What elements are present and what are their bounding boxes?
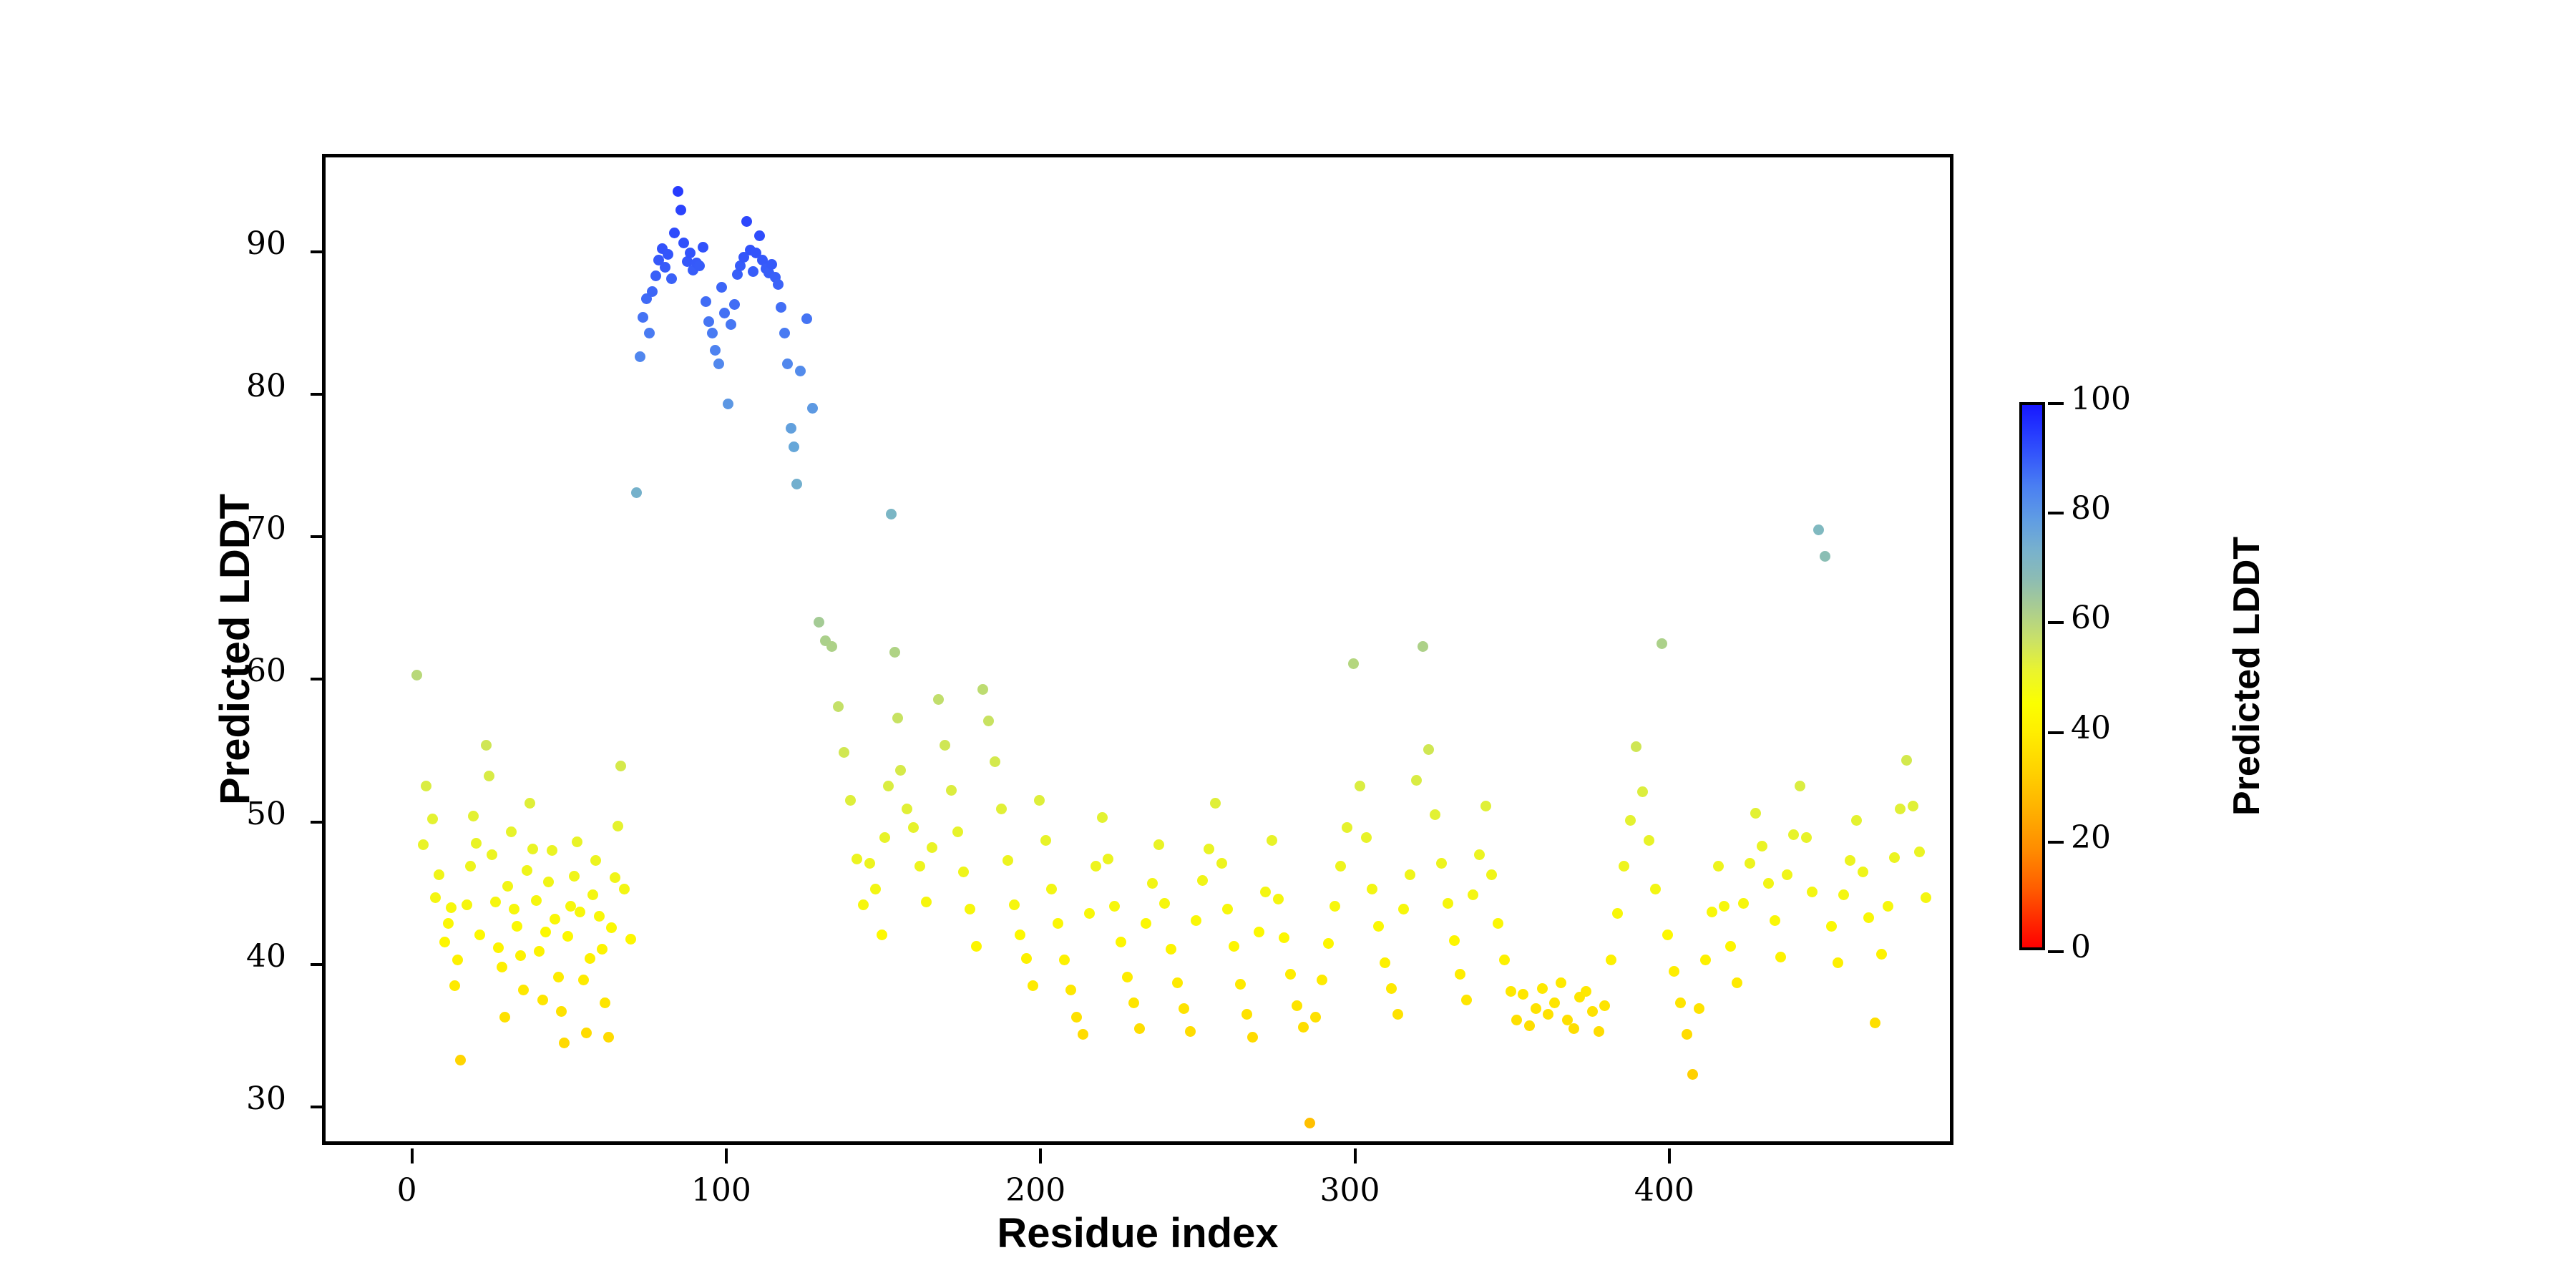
scatter-point bbox=[1518, 989, 1528, 1000]
scatter-point bbox=[1367, 884, 1377, 894]
scatter-point bbox=[845, 795, 856, 806]
x-tick-label: 400 bbox=[1600, 1172, 1729, 1209]
scatter-point bbox=[1901, 755, 1912, 766]
scatter-point bbox=[585, 953, 595, 964]
colorbar-tick-mark bbox=[2048, 731, 2064, 734]
scatter-point bbox=[754, 230, 765, 241]
scatter-point bbox=[795, 366, 806, 376]
scatter-point bbox=[996, 804, 1007, 814]
scatter-point bbox=[1260, 887, 1271, 897]
scatter-point bbox=[1373, 921, 1384, 932]
scatter-point bbox=[490, 897, 501, 907]
scatter-point bbox=[502, 881, 513, 892]
scatter-point bbox=[625, 934, 636, 945]
scatter-point bbox=[694, 260, 705, 271]
scatter-point bbox=[1549, 997, 1560, 1008]
scatter-point bbox=[1323, 938, 1334, 949]
colorbar-tick-mark bbox=[2048, 402, 2064, 405]
scatter-point bbox=[826, 641, 837, 652]
scatter-point bbox=[1921, 892, 1931, 903]
scatter-point bbox=[515, 950, 526, 961]
scatter-point bbox=[1348, 658, 1359, 669]
colorbar-tick-label: 40 bbox=[2071, 710, 2111, 746]
scatter-point bbox=[1669, 966, 1679, 977]
scatter-point bbox=[707, 328, 718, 338]
scatter-point bbox=[1650, 884, 1661, 894]
scatter-point bbox=[1694, 1003, 1704, 1014]
scatter-point bbox=[635, 351, 645, 362]
scatter-point bbox=[729, 299, 740, 310]
scatter-point bbox=[550, 914, 560, 924]
scatter-point bbox=[933, 694, 944, 705]
scatter-point bbox=[703, 316, 714, 327]
scatter-point bbox=[914, 861, 925, 872]
y-tick-mark bbox=[311, 963, 326, 966]
scatter-point bbox=[452, 955, 463, 965]
scatter-point bbox=[1782, 869, 1792, 880]
y-tick-mark bbox=[311, 250, 326, 253]
x-tick-mark bbox=[1668, 1148, 1671, 1163]
y-tick-mark bbox=[311, 535, 326, 538]
scatter-point bbox=[434, 869, 444, 880]
scatter-point bbox=[726, 319, 736, 330]
scatter-point bbox=[1757, 841, 1767, 852]
scatter-point bbox=[1687, 1069, 1698, 1080]
scatter-point bbox=[537, 995, 548, 1005]
scatter-point bbox=[983, 716, 994, 726]
scatter-point bbox=[1480, 801, 1491, 811]
scatter-point bbox=[1398, 904, 1409, 914]
scatter-point bbox=[1531, 1003, 1541, 1014]
scatter-point bbox=[669, 228, 680, 238]
y-tick-label: 90 bbox=[200, 225, 286, 262]
scatter-point bbox=[540, 927, 551, 937]
scatter-point bbox=[1386, 983, 1397, 994]
scatter-point bbox=[1506, 986, 1516, 997]
scatter-point bbox=[594, 911, 605, 922]
scatter-point bbox=[673, 186, 683, 197]
scatter-point bbox=[1870, 1018, 1880, 1028]
scatter-point bbox=[631, 487, 642, 498]
colorbar bbox=[2019, 402, 2045, 950]
scatter-point bbox=[839, 747, 849, 758]
colorbar-tick-mark bbox=[2048, 512, 2064, 514]
scatter-point bbox=[1159, 898, 1170, 909]
scatter-point bbox=[1153, 839, 1164, 850]
scatter-point bbox=[1065, 985, 1076, 995]
scatter-point bbox=[1474, 849, 1485, 860]
scatter-point bbox=[619, 884, 630, 894]
scatter-point bbox=[773, 279, 784, 290]
scatter-point bbox=[1078, 1029, 1088, 1040]
scatter-point bbox=[1662, 930, 1673, 940]
y-tick-mark bbox=[311, 678, 326, 680]
scatter-point bbox=[946, 785, 957, 796]
scatter-point bbox=[766, 259, 777, 270]
scatter-point bbox=[1461, 995, 1472, 1005]
scatter-point bbox=[1015, 930, 1025, 940]
x-tick-mark bbox=[411, 1148, 414, 1163]
scatter-point bbox=[1750, 808, 1761, 819]
scatter-point bbox=[1833, 957, 1843, 968]
scatter-point bbox=[1606, 955, 1616, 965]
scatter-point bbox=[1197, 875, 1208, 886]
y-tick-label: 30 bbox=[200, 1080, 286, 1117]
scatter-point bbox=[590, 855, 601, 866]
scatter-point bbox=[1298, 1022, 1309, 1033]
y-tick-label: 80 bbox=[200, 368, 286, 404]
scatter-point bbox=[666, 273, 677, 284]
scatter-point bbox=[1292, 1000, 1302, 1011]
scatter-point bbox=[789, 441, 799, 452]
colorbar-tick-label: 60 bbox=[2071, 600, 2111, 636]
scatter-point bbox=[1594, 1026, 1604, 1037]
scatter-point bbox=[493, 942, 504, 953]
scatter-point bbox=[748, 266, 758, 277]
scatter-point bbox=[958, 867, 969, 877]
scatter-point bbox=[1216, 858, 1227, 869]
scatter-point bbox=[1820, 551, 1830, 562]
y-tick-mark bbox=[311, 1106, 326, 1108]
scatter-point bbox=[1166, 944, 1176, 955]
x-tick-label: 200 bbox=[971, 1172, 1100, 1209]
scatter-point bbox=[1204, 844, 1214, 854]
x-tick-label: 0 bbox=[343, 1172, 472, 1209]
scatter-point bbox=[1134, 1023, 1145, 1034]
scatter-point bbox=[1179, 1003, 1189, 1014]
scatter-point bbox=[1443, 898, 1453, 909]
scatter-point bbox=[427, 814, 438, 824]
scatter-point bbox=[1141, 918, 1151, 929]
scatter-point bbox=[1267, 835, 1277, 846]
scatter-point bbox=[1914, 847, 1925, 857]
scatter-point bbox=[1725, 941, 1736, 952]
scatter-point bbox=[1813, 525, 1824, 535]
scatter-point bbox=[1109, 901, 1120, 912]
scatter-point bbox=[1625, 815, 1636, 826]
y-tick-mark bbox=[311, 821, 326, 824]
x-tick-mark bbox=[1039, 1148, 1042, 1163]
scatter-point bbox=[1009, 899, 1020, 910]
scatter-point bbox=[1122, 972, 1133, 982]
scatter-point bbox=[1330, 901, 1340, 912]
scatter-point bbox=[1775, 952, 1786, 962]
scatter-point bbox=[791, 479, 802, 489]
scatter-point bbox=[1172, 977, 1183, 988]
scatter-point bbox=[603, 1032, 614, 1043]
scatter-point bbox=[497, 962, 507, 972]
scatter-point bbox=[518, 985, 529, 995]
scatter-point bbox=[786, 423, 796, 434]
scatter-point bbox=[1335, 861, 1346, 872]
scatter-point bbox=[701, 296, 711, 307]
scatter-point bbox=[1304, 1118, 1315, 1128]
scatter-point bbox=[650, 270, 661, 281]
scatter-point bbox=[610, 872, 620, 883]
scatter-point bbox=[921, 897, 932, 907]
scatter-point bbox=[1317, 975, 1327, 985]
scatter-point bbox=[1524, 1020, 1535, 1031]
scatter-point bbox=[468, 811, 479, 821]
scatter-point bbox=[1858, 867, 1868, 877]
scatter-point bbox=[1795, 781, 1805, 791]
scatter-point bbox=[814, 617, 824, 628]
scatter-point bbox=[587, 889, 598, 900]
y-tick-label: 40 bbox=[200, 938, 286, 975]
scatter-point bbox=[1738, 898, 1749, 909]
scatter-point bbox=[1430, 809, 1440, 820]
scatter-point bbox=[553, 972, 564, 982]
scatter-point bbox=[660, 262, 670, 273]
scatter-point bbox=[1405, 869, 1415, 880]
scatter-point bbox=[990, 756, 1000, 767]
scatter-point bbox=[1222, 904, 1233, 914]
scatter-point bbox=[698, 242, 708, 253]
scatter-point bbox=[1801, 832, 1812, 843]
scatter-point bbox=[1361, 832, 1372, 843]
scatter-point bbox=[1310, 1012, 1321, 1023]
scatter-point bbox=[710, 345, 721, 356]
scatter-point bbox=[569, 871, 580, 882]
scatter-point bbox=[1700, 955, 1711, 965]
scatter-point bbox=[572, 836, 582, 847]
scatter-point bbox=[1455, 969, 1465, 980]
scatter-point bbox=[638, 312, 648, 323]
scatter-point bbox=[852, 854, 862, 864]
scatter-point bbox=[465, 861, 476, 872]
scatter-point bbox=[471, 838, 482, 849]
scatter-point bbox=[1644, 835, 1654, 846]
scatter-point bbox=[506, 826, 517, 837]
scatter-point bbox=[600, 997, 610, 1008]
scatter-point bbox=[1707, 907, 1717, 917]
colorbar-tick-label: 0 bbox=[2071, 929, 2091, 965]
scatter-point bbox=[877, 930, 887, 940]
x-axis-title: Residue index bbox=[322, 1209, 1953, 1257]
scatter-point bbox=[1499, 955, 1510, 965]
scatter-point bbox=[895, 765, 906, 776]
scatter-point bbox=[559, 1038, 570, 1048]
plot-area bbox=[322, 154, 1953, 1145]
scatter-point bbox=[713, 358, 724, 369]
scatter-point bbox=[723, 399, 733, 409]
scatter-point bbox=[1411, 775, 1422, 786]
scatter-point bbox=[1128, 997, 1139, 1008]
scatter-point bbox=[1537, 983, 1548, 994]
scatter-point bbox=[1682, 1029, 1692, 1040]
scatter-point bbox=[421, 781, 431, 791]
scatter-point bbox=[1229, 941, 1239, 952]
scatter-point bbox=[1599, 1000, 1610, 1011]
scatter-point bbox=[741, 216, 752, 227]
colorbar-tick-mark bbox=[2048, 621, 2064, 624]
scatter-point bbox=[543, 877, 554, 887]
scatter-point bbox=[1568, 1023, 1579, 1034]
scatter-point bbox=[1273, 894, 1284, 904]
scatter-point bbox=[418, 839, 429, 850]
scatter-point bbox=[1046, 884, 1057, 894]
scatter-point bbox=[1581, 986, 1591, 997]
scatter-point bbox=[1028, 980, 1038, 991]
scatter-point bbox=[977, 684, 988, 695]
x-tick-mark bbox=[1354, 1148, 1357, 1163]
scatter-point bbox=[525, 798, 535, 809]
scatter-point bbox=[613, 821, 623, 831]
scatter-point bbox=[1876, 949, 1887, 960]
scatter-point bbox=[1556, 977, 1566, 988]
scatter-point bbox=[499, 1012, 510, 1023]
scatter-point bbox=[889, 647, 900, 658]
scatter-point bbox=[575, 907, 585, 917]
colorbar-gradient bbox=[2019, 402, 2045, 950]
scatter-point bbox=[1084, 908, 1095, 919]
scatter-point bbox=[1587, 1006, 1598, 1017]
scatter-point bbox=[484, 771, 494, 781]
scatter-point bbox=[1732, 977, 1742, 988]
scatter-point bbox=[1468, 889, 1478, 900]
scatter-point bbox=[1091, 861, 1101, 872]
colorbar-tick-label: 80 bbox=[2071, 490, 2111, 527]
scatter-points-layer bbox=[326, 157, 1950, 1141]
scatter-point bbox=[1147, 878, 1158, 889]
scatter-point bbox=[1116, 937, 1126, 947]
scatter-point bbox=[1103, 854, 1113, 864]
scatter-point bbox=[776, 302, 786, 313]
scatter-point bbox=[1185, 1026, 1196, 1037]
y-tick-label: 60 bbox=[200, 653, 286, 689]
scatter-point bbox=[1380, 957, 1390, 968]
scatter-point bbox=[1423, 744, 1434, 755]
scatter-point bbox=[1637, 786, 1648, 797]
scatter-point bbox=[908, 822, 919, 833]
colorbar-tick-mark bbox=[2048, 950, 2064, 953]
scatter-point bbox=[779, 328, 790, 338]
x-tick-mark bbox=[725, 1148, 728, 1163]
scatter-point bbox=[1657, 638, 1667, 649]
scatter-point bbox=[449, 980, 460, 991]
scatter-point bbox=[675, 205, 686, 215]
scatter-point bbox=[1838, 889, 1849, 900]
colorbar-tick-label: 100 bbox=[2071, 381, 2131, 417]
scatter-point bbox=[1436, 858, 1447, 869]
scatter-point bbox=[1254, 927, 1264, 937]
scatter-point bbox=[581, 1028, 592, 1038]
scatter-point bbox=[527, 844, 538, 854]
scatter-point bbox=[663, 249, 673, 260]
x-tick-label: 300 bbox=[1286, 1172, 1415, 1209]
scatter-point bbox=[597, 944, 608, 955]
scatter-point bbox=[1418, 641, 1428, 652]
scatter-point bbox=[1279, 932, 1289, 943]
scatter-point bbox=[883, 781, 894, 791]
scatter-point bbox=[870, 884, 881, 894]
scatter-point bbox=[1863, 912, 1874, 923]
scatter-point bbox=[940, 740, 950, 751]
y-tick-label: 70 bbox=[200, 510, 286, 547]
colorbar-tick-label: 20 bbox=[2071, 819, 2111, 856]
scatter-point bbox=[1449, 935, 1460, 946]
scatter-point bbox=[606, 922, 617, 933]
scatter-point bbox=[481, 740, 492, 751]
scatter-point bbox=[1619, 861, 1629, 872]
scatter-point bbox=[647, 286, 658, 297]
scatter-point bbox=[1845, 855, 1855, 866]
scatter-point bbox=[1486, 869, 1497, 880]
scatter-point bbox=[487, 849, 497, 860]
scatter-point bbox=[578, 975, 589, 985]
scatter-point bbox=[1889, 852, 1900, 863]
scatter-point bbox=[1392, 1009, 1403, 1020]
scatter-point bbox=[892, 713, 903, 723]
scatter-point bbox=[644, 328, 655, 338]
scatter-point bbox=[562, 931, 573, 942]
scatter-point bbox=[547, 845, 557, 856]
scatter-point bbox=[833, 701, 844, 712]
scatter-point bbox=[1040, 835, 1051, 846]
scatter-point bbox=[927, 842, 937, 853]
scatter-point bbox=[1788, 829, 1799, 840]
scatter-point bbox=[1021, 953, 1032, 964]
scatter-point bbox=[1631, 741, 1641, 752]
scatter-point bbox=[965, 904, 975, 914]
figure-canvas: Predicted LDDT 30405060708090 0100200300… bbox=[0, 0, 2576, 1288]
scatter-point bbox=[971, 941, 982, 952]
scatter-point bbox=[534, 946, 545, 957]
scatter-point bbox=[1493, 918, 1503, 929]
scatter-point bbox=[678, 238, 689, 248]
scatter-point bbox=[782, 358, 793, 369]
scatter-point bbox=[1511, 1015, 1522, 1025]
scatter-point bbox=[1543, 1009, 1553, 1020]
scatter-point bbox=[864, 858, 875, 869]
y-tick-mark bbox=[311, 393, 326, 396]
scatter-point bbox=[455, 1055, 466, 1065]
scatter-point bbox=[886, 509, 897, 519]
scatter-point bbox=[1071, 1012, 1082, 1023]
y-tick-label: 50 bbox=[200, 796, 286, 832]
scatter-point bbox=[509, 904, 519, 914]
scatter-point bbox=[1908, 801, 1918, 811]
scatter-point bbox=[1612, 908, 1623, 919]
scatter-point bbox=[1745, 858, 1755, 869]
scatter-point bbox=[1763, 878, 1774, 889]
scatter-point bbox=[1034, 795, 1045, 806]
scatter-point bbox=[1235, 979, 1246, 990]
scatter-point bbox=[1770, 915, 1780, 926]
scatter-point bbox=[1826, 921, 1837, 932]
scatter-point bbox=[719, 308, 730, 318]
scatter-point bbox=[556, 1006, 567, 1017]
y-axis-title: Predicted LDDT bbox=[211, 154, 259, 1145]
scatter-point bbox=[1851, 815, 1862, 826]
scatter-point bbox=[512, 921, 522, 932]
scatter-point bbox=[1675, 997, 1686, 1008]
scatter-point bbox=[858, 899, 869, 910]
scatter-point bbox=[1097, 812, 1108, 823]
scatter-point bbox=[1241, 1009, 1252, 1020]
scatter-point bbox=[1342, 822, 1352, 833]
scatter-point bbox=[807, 403, 818, 414]
scatter-point bbox=[1807, 887, 1818, 897]
scatter-point bbox=[879, 832, 890, 843]
x-tick-label: 100 bbox=[657, 1172, 786, 1209]
scatter-point bbox=[439, 937, 450, 947]
scatter-point bbox=[1883, 901, 1893, 912]
scatter-point bbox=[615, 761, 626, 771]
scatter-point bbox=[801, 313, 812, 324]
scatter-point bbox=[1355, 781, 1365, 791]
colorbar-tick-mark bbox=[2048, 841, 2064, 844]
